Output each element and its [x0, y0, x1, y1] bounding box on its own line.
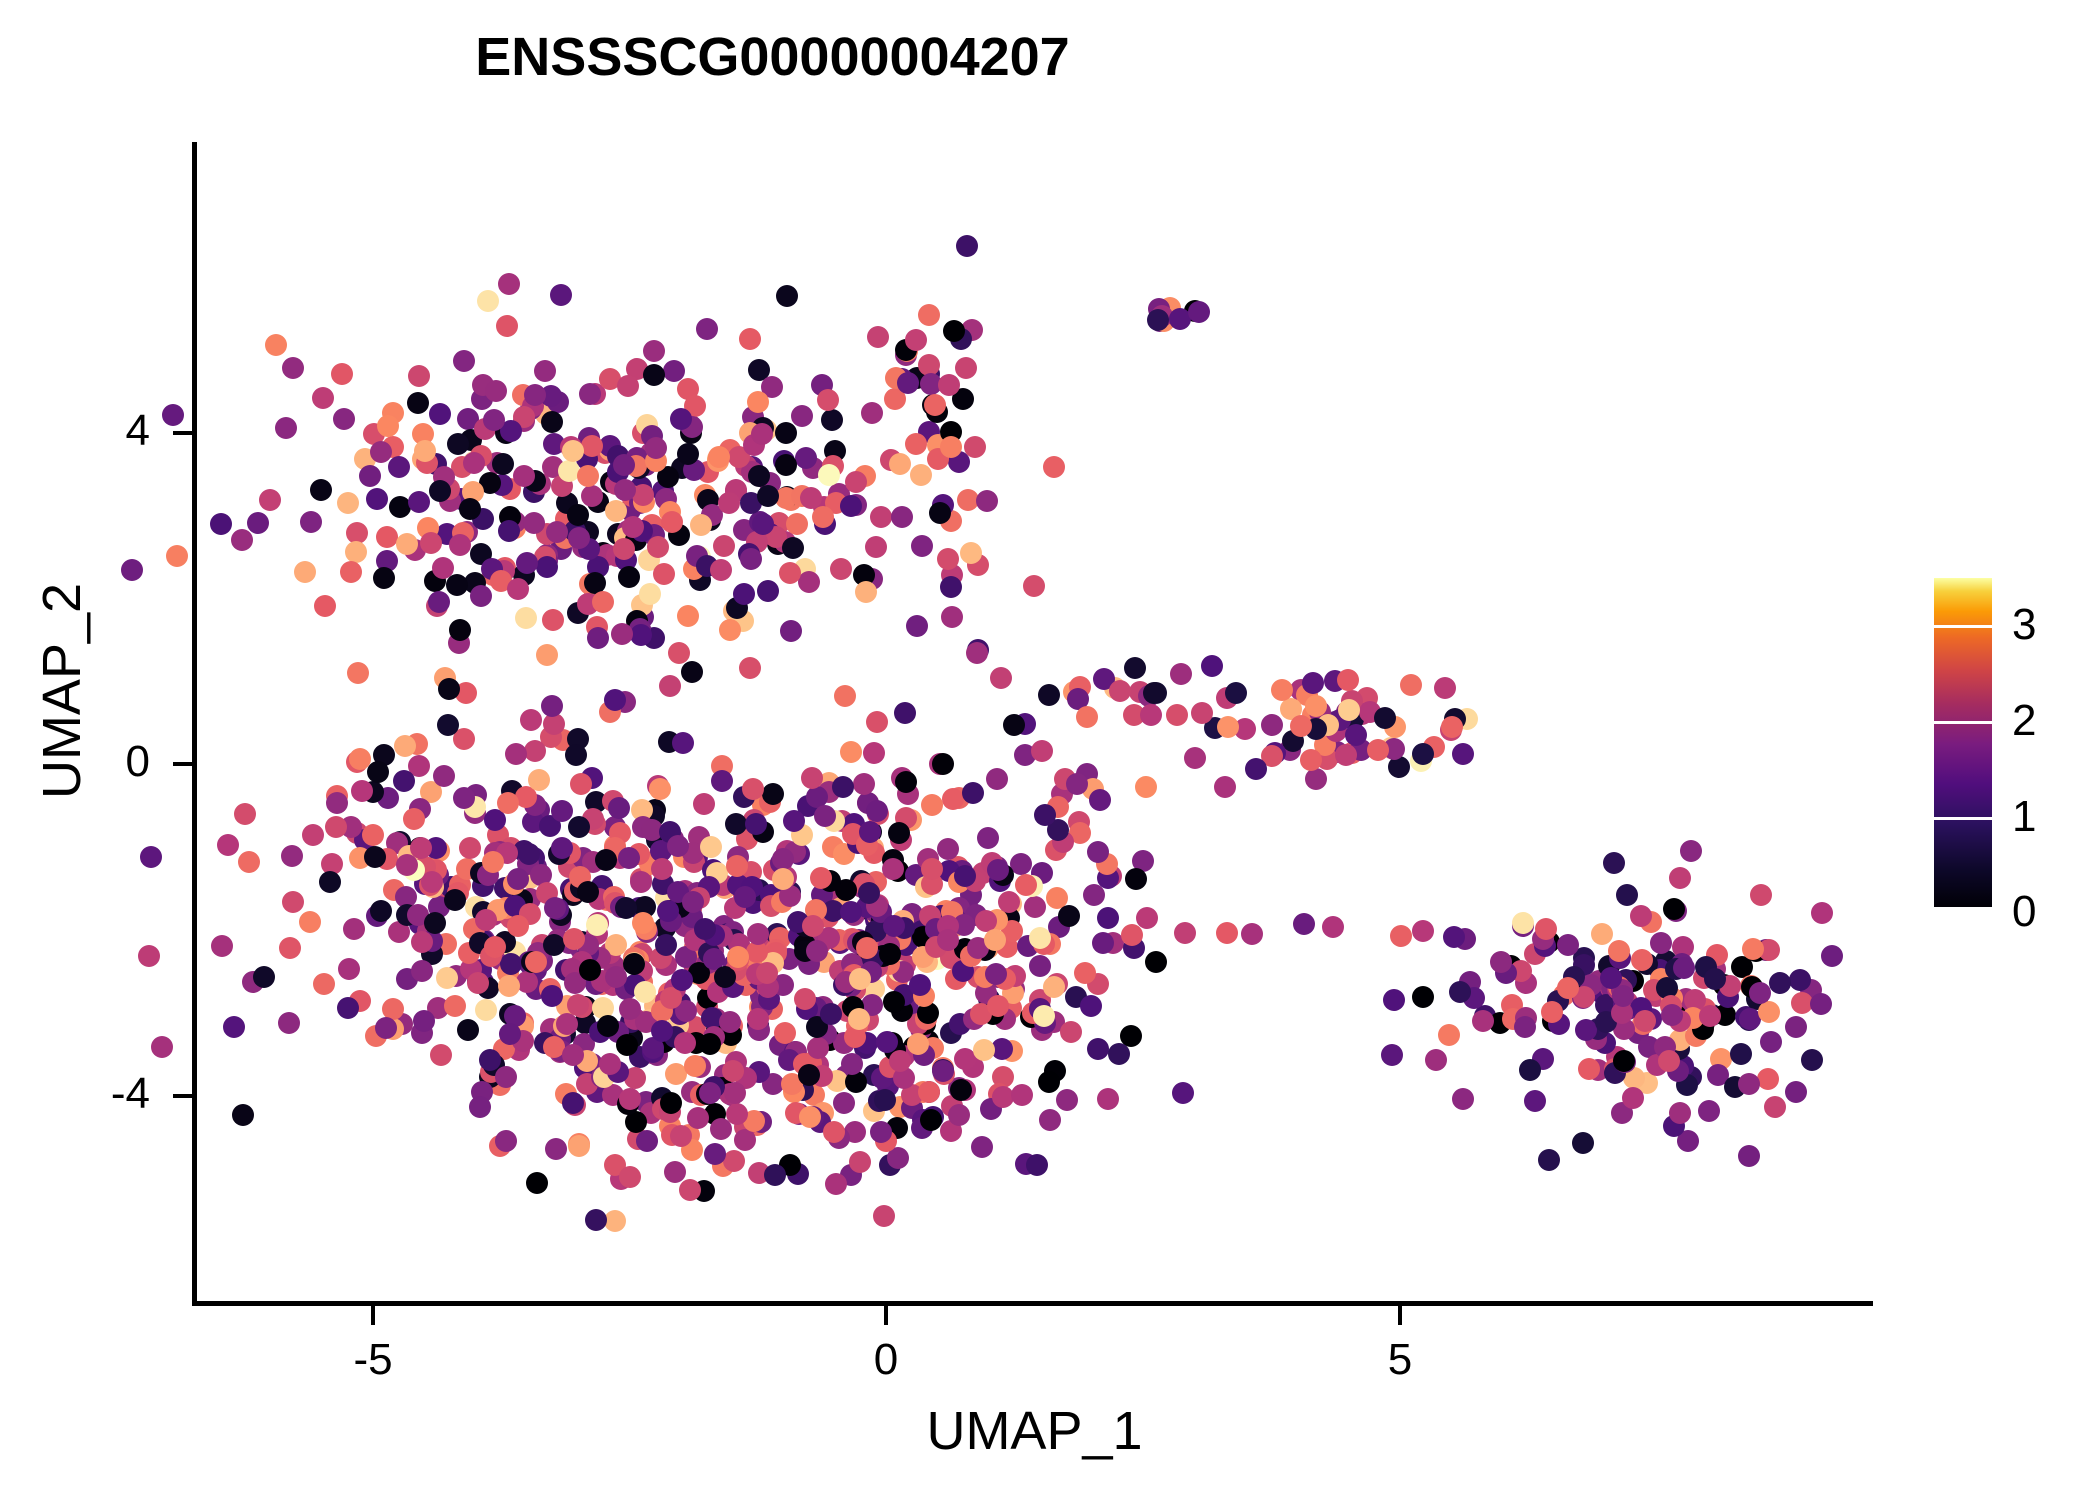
scatter-point: [475, 999, 497, 1021]
scatter-point: [937, 548, 959, 570]
scatter-point: [585, 1209, 607, 1231]
scatter-point: [121, 559, 143, 581]
scatter-point: [888, 822, 910, 844]
scatter-point: [551, 837, 573, 859]
scatter-point: [1038, 1071, 1060, 1093]
scatter-point: [694, 918, 716, 940]
scatter-point: [955, 357, 977, 379]
scatter-point: [619, 1088, 641, 1110]
x-tick-mark-5: [1398, 1306, 1402, 1325]
scatter-point: [577, 881, 599, 903]
scatter-point: [1290, 715, 1312, 737]
scatter-point: [536, 556, 558, 578]
scatter-point: [611, 623, 633, 645]
scatter-point: [550, 284, 572, 306]
scatter-point: [1742, 938, 1764, 960]
scatter-point: [1108, 1043, 1130, 1065]
scatter-point: [568, 816, 590, 838]
scatter-point: [807, 1037, 829, 1059]
scatter-point: [1769, 972, 1791, 994]
scatter-point: [1305, 768, 1327, 790]
scatter-point: [821, 409, 843, 431]
scatter-point: [326, 792, 348, 814]
scatter-point: [700, 836, 722, 858]
scatter-point: [856, 937, 878, 959]
scatter-point: [259, 489, 281, 511]
scatter-point: [1214, 776, 1236, 798]
scatter-point: [605, 966, 627, 988]
scatter-point: [647, 536, 669, 558]
scatter-point: [483, 409, 505, 431]
scatter-point: [814, 805, 836, 827]
scatter-point: [883, 915, 905, 937]
scatter-point: [661, 511, 683, 533]
scatter-point: [748, 465, 770, 487]
scatter-point: [577, 465, 599, 487]
scatter-point: [948, 1104, 970, 1126]
scatter-point: [775, 422, 797, 444]
scatter-point: [477, 290, 499, 312]
scatter-point: [1490, 951, 1512, 973]
colorbar-label-2: 2: [2012, 696, 2036, 746]
scatter-point: [373, 567, 395, 589]
scatter-point: [918, 304, 940, 326]
scatter-point: [319, 871, 341, 893]
scatter-point: [1345, 724, 1367, 746]
scatter-point: [1631, 949, 1653, 971]
scatter-point: [437, 714, 459, 736]
y-tick-label--4: -4: [20, 1069, 150, 1119]
scatter-point: [1184, 747, 1206, 769]
scatter-point: [756, 962, 778, 984]
scatter-point: [1452, 743, 1474, 765]
scatter-point: [1535, 918, 1557, 940]
scatter-point: [1092, 932, 1114, 954]
scatter-point: [403, 808, 425, 830]
scatter-point: [1738, 1145, 1760, 1167]
scatter-point: [1147, 309, 1169, 331]
scatter-point: [879, 943, 901, 965]
scatter-point: [1300, 749, 1322, 771]
scatter-point: [747, 391, 769, 413]
scatter-point: [394, 735, 416, 757]
scatter-point: [921, 794, 943, 816]
scatter-point: [858, 882, 880, 904]
scatter-point: [499, 1023, 521, 1045]
scatter-point: [366, 488, 388, 510]
x-axis-line: [192, 1301, 1873, 1306]
scatter-point: [377, 415, 399, 437]
colorbar-label-3: 3: [2012, 600, 2036, 650]
scatter-point: [668, 642, 690, 664]
scatter-point: [636, 1130, 658, 1152]
scatter-point: [1029, 927, 1051, 949]
scatter-point: [830, 558, 852, 580]
scatter-point: [950, 1079, 972, 1101]
scatter-point: [782, 537, 804, 559]
scatter-point: [699, 1033, 721, 1055]
scatter-point: [513, 465, 535, 487]
scatter-point: [507, 915, 529, 937]
scatter-point: [622, 516, 644, 538]
scatter-point: [1425, 1049, 1447, 1071]
scatter-point: [544, 897, 566, 919]
scatter-point: [825, 1173, 847, 1195]
scatter-point: [340, 561, 362, 583]
scatter-point: [429, 403, 451, 425]
scatter-point: [568, 1135, 590, 1157]
scatter-point: [1089, 789, 1111, 811]
x-tick-label-0: 0: [811, 1335, 961, 1385]
scatter-point: [534, 360, 556, 382]
scatter-point: [408, 491, 430, 513]
scatter-point: [166, 545, 188, 567]
scatter-point: [723, 1150, 745, 1172]
scatter-point: [408, 365, 430, 387]
scatter-point: [1663, 898, 1685, 920]
scatter-point: [956, 235, 978, 257]
scatter-point: [595, 849, 617, 871]
scatter-point: [740, 548, 762, 570]
scatter-point: [312, 387, 334, 409]
scatter-point: [498, 520, 520, 542]
scatter-point: [279, 937, 301, 959]
scatter-point: [570, 773, 592, 795]
scatter-point: [497, 792, 519, 814]
scatter-point: [870, 506, 892, 528]
scatter-point: [453, 787, 475, 809]
scatter-point: [1789, 969, 1811, 991]
scatter-point: [1381, 1044, 1403, 1066]
scatter-point: [747, 1008, 769, 1030]
scatter-point: [210, 513, 232, 535]
scatter-point: [463, 452, 485, 474]
scatter-point: [920, 1109, 942, 1131]
scatter-point: [300, 511, 322, 533]
scatter-point: [1087, 841, 1109, 863]
scatter-point: [1245, 758, 1267, 780]
scatter-point: [370, 900, 392, 922]
scatter-point: [990, 667, 1012, 689]
scatter-point: [275, 417, 297, 439]
scatter-point: [1634, 1010, 1656, 1032]
scatter-point: [870, 1121, 892, 1143]
scatter-point: [745, 813, 767, 835]
scatter-point: [1188, 301, 1210, 323]
scatter-point: [393, 770, 415, 792]
scatter-point: [832, 776, 854, 798]
scatter-point: [543, 934, 565, 956]
scatter-point: [1661, 1004, 1683, 1026]
scatter-point: [1023, 575, 1045, 597]
scatter-point: [840, 495, 862, 517]
scatter-point: [876, 1031, 898, 1053]
scatter-point: [1538, 1149, 1560, 1171]
scatter-point: [667, 835, 689, 857]
x-tick-label--5: -5: [298, 1335, 448, 1385]
scatter-point: [581, 485, 603, 507]
scatter-point: [162, 404, 184, 426]
colorbar-tick-2: [1934, 721, 1992, 724]
scatter-point: [711, 770, 733, 792]
scatter-point: [1174, 922, 1196, 944]
x-axis-title: UMAP_1: [196, 1400, 1873, 1462]
scatter-point: [151, 1036, 173, 1058]
scatter-point: [762, 783, 784, 805]
page-title: ENSSSCG00000004207: [0, 26, 1545, 88]
scatter-point: [937, 929, 959, 951]
y-axis-title: UMAP_2: [31, 311, 93, 1071]
scatter-point: [1136, 907, 1158, 929]
scatter-point: [449, 534, 471, 556]
scatter-point: [359, 465, 381, 487]
scatter-point: [619, 1166, 641, 1188]
scatter-point: [976, 490, 998, 512]
scatter-point: [726, 855, 748, 877]
scatter-point: [727, 946, 749, 968]
scatter-point: [1125, 868, 1147, 890]
x-tick-label-5: 5: [1325, 1335, 1475, 1385]
scatter-point: [1011, 1084, 1033, 1106]
scatter-point: [643, 340, 665, 362]
scatter-point: [604, 689, 626, 711]
scatter-point: [1438, 1024, 1460, 1046]
scatter-point: [739, 657, 761, 679]
scatter-point: [1412, 986, 1434, 1008]
scatter-point: [679, 1179, 701, 1201]
scatter-point: [710, 559, 732, 581]
scatter-point: [568, 527, 590, 549]
scatter-point: [733, 583, 755, 605]
scatter-point: [867, 326, 889, 348]
umap-feature-plot: ENSSSCG00000004207 4 0 -4 -5 0 5 UMAP_2 …: [0, 0, 2100, 1500]
scatter-point: [331, 363, 353, 385]
scatter-point: [430, 1044, 452, 1066]
scatter-point: [459, 498, 481, 520]
scatter-point: [429, 480, 451, 502]
scatter-point: [1613, 1050, 1635, 1072]
scatter-point: [693, 793, 715, 815]
scatter-point: [413, 1010, 435, 1032]
scatter-point: [278, 1012, 300, 1034]
scatter-point: [657, 900, 679, 922]
scatter-point: [1514, 1016, 1536, 1038]
scatter-point: [911, 535, 933, 557]
scatter-point: [1217, 716, 1239, 738]
scatter-point: [772, 868, 794, 890]
scatter-point: [343, 918, 365, 940]
scatter-point: [677, 605, 699, 627]
colorbar-label-0: 0: [2012, 887, 2036, 937]
scatter-point: [299, 911, 321, 933]
scatter-point: [742, 778, 764, 800]
x-tick-mark-0: [884, 1306, 888, 1325]
scatter-point: [681, 661, 703, 683]
scatter-point: [718, 492, 740, 514]
scatter-point: [282, 357, 304, 379]
scatter-point: [682, 891, 704, 913]
scatter-point: [863, 742, 885, 764]
scatter-point: [708, 446, 730, 468]
scatter-point: [734, 1129, 756, 1151]
scatter-point: [1083, 884, 1105, 906]
scatter-point: [433, 765, 455, 787]
scatter-point: [523, 512, 545, 534]
scatter-point: [496, 315, 518, 337]
scatter-point: [645, 437, 667, 459]
scatter-point: [684, 1055, 706, 1077]
scatter-point: [672, 732, 694, 754]
scatter-point: [651, 858, 673, 880]
scatter-point: [810, 867, 832, 889]
scatter-point: [325, 816, 347, 838]
scatter-point: [964, 436, 986, 458]
scatter-point: [407, 392, 429, 414]
scatter-point: [834, 685, 856, 707]
scatter-point: [536, 644, 558, 666]
scatter-point: [906, 615, 928, 637]
scatter-point: [347, 662, 369, 684]
scatter-point: [973, 1039, 995, 1061]
scatter-point: [623, 953, 645, 975]
scatter-point: [1758, 1001, 1780, 1023]
scatter-point: [690, 514, 712, 536]
scatter-point: [1658, 1050, 1680, 1072]
scatter-point: [1764, 1096, 1786, 1118]
scatter-point: [1449, 981, 1471, 1003]
scatter-point: [1058, 905, 1080, 927]
scatter-point: [1140, 704, 1162, 726]
scatter-point: [1261, 714, 1283, 736]
scatter-point: [897, 372, 919, 394]
scatter-point: [739, 328, 761, 350]
scatter-point: [841, 1053, 863, 1075]
scatter-point: [752, 513, 774, 535]
scatter-point: [855, 581, 877, 603]
scatter-point: [1810, 993, 1832, 1015]
scatter-point: [587, 627, 609, 649]
scatter-point: [937, 838, 959, 860]
scatter-point: [722, 1060, 744, 1082]
scatter-point: [794, 988, 816, 1010]
x-tick-mark--5: [371, 1306, 375, 1325]
scatter-point: [457, 1019, 479, 1041]
scatter-point: [449, 619, 471, 641]
scatter-point: [520, 709, 542, 731]
scatter-point: [349, 748, 371, 770]
scatter-point: [337, 997, 359, 1019]
scatter-point: [861, 402, 883, 424]
scatter-point: [840, 741, 862, 763]
scatter-point: [1302, 672, 1324, 694]
scatter-point: [984, 929, 1006, 951]
scatter-point: [1060, 1021, 1082, 1043]
scatter-point: [655, 934, 677, 956]
y-tick-mark-0: [173, 762, 192, 766]
scatter-point: [1087, 1038, 1109, 1060]
colorbar-tick-3: [1934, 625, 1992, 628]
scatter-point: [780, 620, 802, 642]
scatter-point: [1170, 663, 1192, 685]
scatter-point: [459, 837, 481, 859]
scatter-point: [724, 1082, 746, 1104]
scatter-point: [1698, 1100, 1720, 1122]
scatter-point: [671, 969, 693, 991]
scatter-point: [670, 1125, 692, 1147]
scatter-point: [1034, 804, 1056, 826]
scatter-point: [618, 847, 640, 869]
scatter-point: [713, 535, 735, 557]
scatter-point: [411, 960, 433, 982]
scatter-point: [524, 384, 546, 406]
scatter-point: [1029, 955, 1051, 977]
scatter-point: [800, 487, 822, 509]
scatter-point: [467, 972, 489, 994]
scatter-point: [333, 408, 355, 430]
scatter-point: [1066, 773, 1088, 795]
scatter-point: [833, 1092, 855, 1114]
scatter-point: [541, 695, 563, 717]
scatter-point: [882, 858, 904, 880]
scatter-point: [1383, 989, 1405, 1011]
scatter-point: [905, 433, 927, 455]
scatter-point: [889, 453, 911, 475]
scatter-point: [1811, 902, 1833, 924]
scatter-point: [546, 521, 568, 543]
scatter-point: [1335, 744, 1357, 766]
colorbar-tick-0: [1934, 907, 1992, 910]
scatter-point: [659, 675, 681, 697]
scatter-point: [1443, 926, 1465, 948]
scatter-point: [388, 456, 410, 478]
scatter-point: [1757, 1068, 1779, 1090]
scatter-point: [1337, 669, 1359, 691]
y-tick-mark-4: [173, 431, 192, 435]
scatter-point: [907, 1033, 929, 1055]
scatter-point: [663, 360, 685, 382]
scatter-point: [1575, 1019, 1597, 1041]
scatter-point: [428, 591, 450, 613]
scatter-point: [605, 500, 627, 522]
scatter-point: [664, 1161, 686, 1183]
scatter-point: [302, 824, 324, 846]
scatter-point: [909, 974, 931, 996]
scatter-point: [1738, 1073, 1760, 1095]
scatter-point: [411, 931, 433, 953]
scatter-point: [1097, 1088, 1119, 1110]
scatter-point: [1524, 1090, 1546, 1112]
scatter-point: [282, 891, 304, 913]
scatter-point: [140, 846, 162, 868]
scatter-point: [294, 561, 316, 583]
scatter-point: [1056, 1089, 1078, 1111]
scatter-point: [1472, 1010, 1494, 1032]
scatter-point: [613, 454, 635, 476]
scatter-point: [774, 1022, 796, 1044]
scatter-point: [453, 350, 475, 372]
scatter-point: [545, 1138, 567, 1160]
scatter-point: [1003, 714, 1025, 736]
scatter-point: [630, 624, 652, 646]
y-tick-mark--4: [173, 1094, 192, 1098]
scatter-point: [444, 995, 466, 1017]
scatter-point: [375, 1017, 397, 1039]
scatter-point: [579, 959, 601, 981]
scatter-point: [1080, 995, 1102, 1017]
colorbar-label-1: 1: [2012, 792, 2036, 842]
scatter-point: [924, 394, 946, 416]
scatter-point: [482, 851, 504, 873]
